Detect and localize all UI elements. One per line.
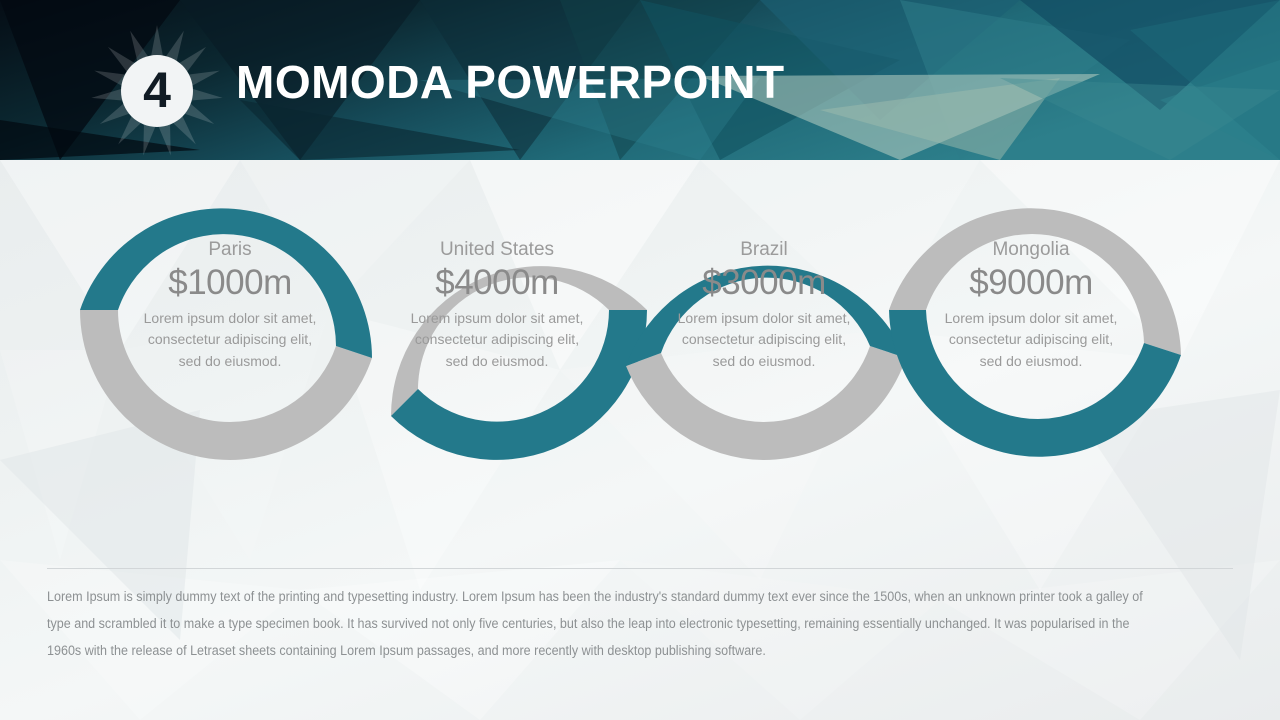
page-title: MOMODA POWERPOINT — [236, 55, 785, 109]
ring-desc-line: Lorem ipsum dolor sit amet, — [907, 308, 1155, 330]
ring-description: Lorem ipsum dolor sit amet, consectetur … — [640, 308, 888, 373]
ring-desc-line: sed do eiusmod. — [640, 351, 888, 373]
ring-value: $1000m — [106, 261, 354, 305]
ring-desc-line: consectetur adipiscing elit, — [106, 329, 354, 351]
ring-content-1: Paris $1000m Lorem ipsum dolor sit amet,… — [106, 240, 354, 373]
ring-content-2: United States $4000m Lorem ipsum dolor s… — [373, 240, 621, 373]
ring-item-3[interactable]: Brazil $3000m Lorem ipsum dolor sit amet… — [614, 160, 914, 460]
ring-desc-line: consectetur adipiscing elit, — [907, 329, 1155, 351]
ring-label: United States — [373, 240, 621, 261]
ring-description: Lorem ipsum dolor sit amet, consectetur … — [907, 308, 1155, 373]
ring-description: Lorem ipsum dolor sit amet, consectetur … — [373, 308, 621, 373]
ring-label: Brazil — [640, 240, 888, 261]
ring-desc-line: sed do eiusmod. — [907, 351, 1155, 373]
ring-item-2[interactable]: United States $4000m Lorem ipsum dolor s… — [347, 160, 647, 460]
slide-header: 4 MOMODA POWERPOINT — [0, 0, 1280, 160]
footer-paragraph: Lorem Ipsum is simply dummy text of the … — [47, 583, 1144, 664]
ring-chain: Paris $1000m Lorem ipsum dolor sit amet,… — [0, 160, 1280, 560]
ring-item-1[interactable]: Paris $1000m Lorem ipsum dolor sit amet,… — [80, 160, 380, 460]
slide-number-badge: 4 — [88, 22, 226, 160]
footer-divider — [47, 568, 1233, 569]
ring-desc-line: consectetur adipiscing elit, — [373, 329, 621, 351]
ring-value: $4000m — [373, 261, 621, 305]
ring-description: Lorem ipsum dolor sit amet, consectetur … — [106, 308, 354, 373]
ring-desc-line: consectetur adipiscing elit, — [640, 329, 888, 351]
ring-desc-line: Lorem ipsum dolor sit amet, — [640, 308, 888, 330]
ring-desc-line: Lorem ipsum dolor sit amet, — [106, 308, 354, 330]
slide-number: 4 — [88, 22, 226, 160]
ring-desc-line: Lorem ipsum dolor sit amet, — [373, 308, 621, 330]
ring-desc-line: sed do eiusmod. — [106, 351, 354, 373]
slide: 4 MOMODA POWERPOINT Paris $1000m Lorem i… — [0, 0, 1280, 720]
ring-value: $9000m — [907, 261, 1155, 305]
ring-content-3: Brazil $3000m Lorem ipsum dolor sit amet… — [640, 240, 888, 373]
ring-value: $3000m — [640, 261, 888, 305]
ring-desc-line: sed do eiusmod. — [373, 351, 621, 373]
ring-label: Paris — [106, 240, 354, 261]
ring-content-4: Mongolia $9000m Lorem ipsum dolor sit am… — [907, 240, 1155, 373]
ring-item-4[interactable]: Mongolia $9000m Lorem ipsum dolor sit am… — [881, 160, 1181, 460]
ring-label: Mongolia — [907, 240, 1155, 261]
